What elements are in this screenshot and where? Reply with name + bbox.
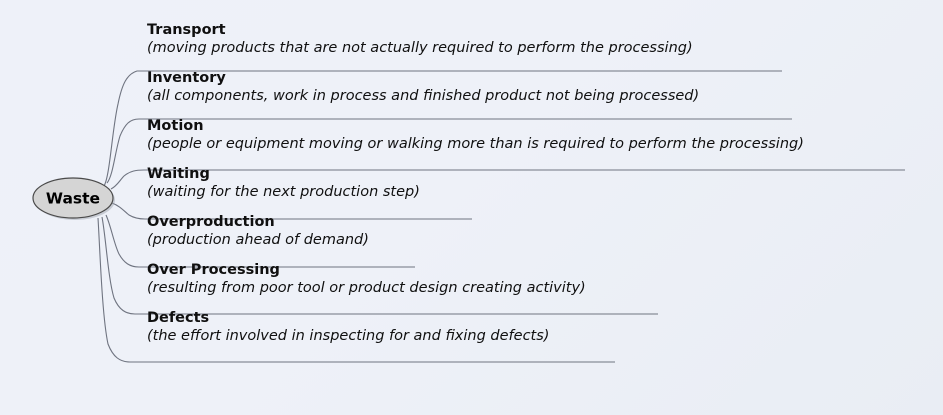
mindmap-canvas: Waste Transport (moving products that ar… bbox=[0, 0, 943, 415]
branch-description: (the effort involved in inspecting for a… bbox=[147, 327, 549, 346]
branch-title: Transport bbox=[147, 21, 693, 39]
branch-title: Waiting bbox=[147, 165, 420, 183]
branch-description: (production ahead of demand) bbox=[147, 231, 369, 250]
branch-title: Inventory bbox=[147, 69, 699, 87]
branch-layer: Transport (moving products that are not … bbox=[0, 0, 943, 415]
branch-description: (all components, work in process and fin… bbox=[147, 87, 699, 106]
branch-motion[interactable]: Motion (people or equipment moving or wa… bbox=[147, 117, 804, 154]
branch-title: Overproduction bbox=[147, 213, 369, 231]
branch-waiting[interactable]: Waiting (waiting for the next production… bbox=[147, 165, 420, 202]
branch-title: Motion bbox=[147, 117, 804, 135]
branch-transport[interactable]: Transport (moving products that are not … bbox=[147, 21, 693, 58]
branch-description: (waiting for the next production step) bbox=[147, 183, 420, 202]
branch-description: (moving products that are not actually r… bbox=[147, 39, 693, 58]
branch-inventory[interactable]: Inventory (all components, work in proce… bbox=[147, 69, 699, 106]
branch-title: Defects bbox=[147, 309, 549, 327]
branch-description: (resulting from poor tool or product des… bbox=[147, 279, 586, 298]
branch-description: (people or equipment moving or walking m… bbox=[147, 135, 804, 154]
branch-over-processing[interactable]: Over Processing (resulting from poor too… bbox=[147, 261, 586, 298]
branch-overproduction[interactable]: Overproduction (production ahead of dema… bbox=[147, 213, 369, 250]
branch-defects[interactable]: Defects (the effort involved in inspecti… bbox=[147, 309, 549, 346]
branch-title: Over Processing bbox=[147, 261, 586, 279]
